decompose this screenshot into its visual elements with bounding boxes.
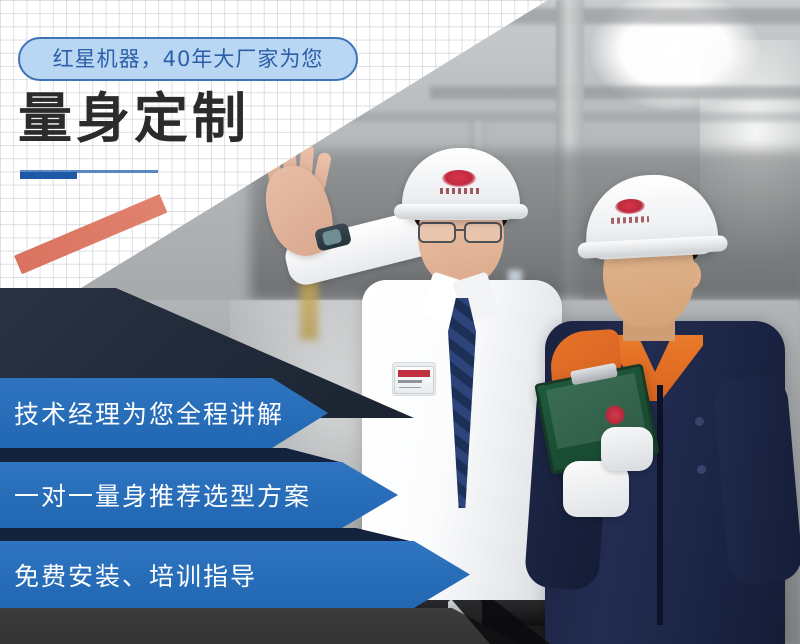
bottom-charcoal-slab <box>0 608 520 644</box>
feature-banner-3-label: 免费安装、培训指导 <box>0 557 257 593</box>
feature-banner-1[interactable]: 技术经理为您全程讲解 <box>0 378 328 448</box>
promo-banner: 红星机器，40年大厂家为您 量身定制 技术经理为您全程讲解 一对一量身推荐选型方… <box>0 0 800 644</box>
feature-list: 技术经理为您全程讲解 一对一量身推荐选型方案 免费安装、培训指导 <box>0 0 800 644</box>
feature-banner-shadow <box>0 448 340 462</box>
feature-banner-2-label: 一对一量身推荐选型方案 <box>0 477 311 513</box>
feature-banner-shadow <box>0 528 410 541</box>
feature-banner-1-label: 技术经理为您全程讲解 <box>0 395 284 431</box>
feature-banner-2[interactable]: 一对一量身推荐选型方案 <box>0 462 398 528</box>
feature-banner-3[interactable]: 免费安装、培训指导 <box>0 541 470 608</box>
